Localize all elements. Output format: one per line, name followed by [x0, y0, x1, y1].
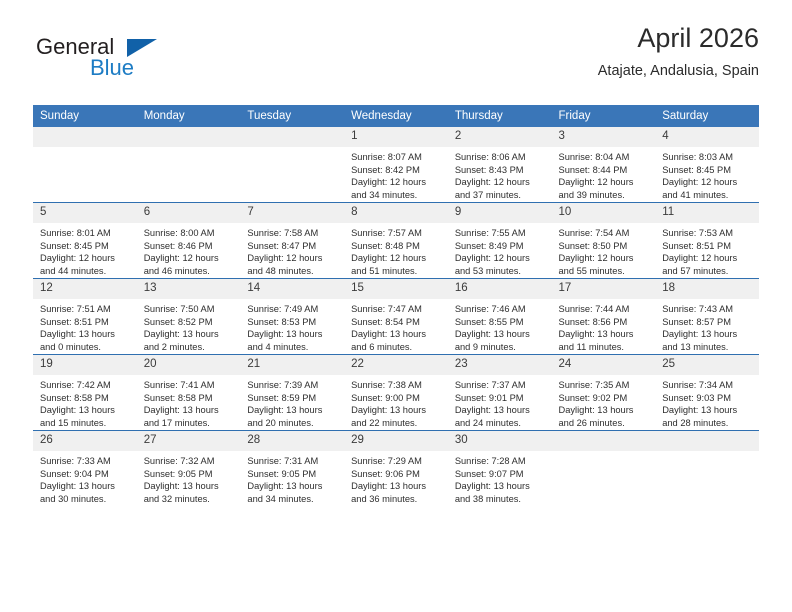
calendar-day-cell[interactable]: 22Sunrise: 7:38 AMSunset: 9:00 PMDayligh… — [344, 355, 448, 431]
day-number: 10 — [552, 203, 656, 223]
sunset-text: Sunset: 8:59 PM — [247, 392, 338, 405]
daylight-text: Daylight: 13 hours and 36 minutes. — [351, 480, 442, 505]
sunrise-text: Sunrise: 7:41 AM — [144, 379, 235, 392]
daylight-text: Daylight: 12 hours and 37 minutes. — [455, 176, 546, 201]
calendar-day-cell[interactable]: 19Sunrise: 7:42 AMSunset: 8:58 PMDayligh… — [33, 355, 137, 431]
sunrise-text: Sunrise: 8:00 AM — [144, 227, 235, 240]
daylight-text: Daylight: 13 hours and 20 minutes. — [247, 404, 338, 429]
day-sun-info: Sunrise: 7:46 AMSunset: 8:55 PMDaylight:… — [448, 299, 552, 353]
day-sun-info: Sunrise: 7:34 AMSunset: 9:03 PMDaylight:… — [655, 375, 759, 429]
day-sun-info: Sunrise: 7:28 AMSunset: 9:07 PMDaylight:… — [448, 451, 552, 505]
weekday-header-saturday: Saturday — [655, 105, 759, 127]
daylight-text: Daylight: 13 hours and 30 minutes. — [40, 480, 131, 505]
calendar-day-cell[interactable]: 11Sunrise: 7:53 AMSunset: 8:51 PMDayligh… — [655, 203, 759, 279]
calendar-day-cell[interactable]: 27Sunrise: 7:32 AMSunset: 9:05 PMDayligh… — [137, 431, 241, 507]
day-number — [137, 127, 241, 147]
calendar-day-cell[interactable]: 15Sunrise: 7:47 AMSunset: 8:54 PMDayligh… — [344, 279, 448, 355]
sunset-text: Sunset: 8:56 PM — [559, 316, 650, 329]
daylight-text: Daylight: 12 hours and 51 minutes. — [351, 252, 442, 277]
calendar-cell-empty — [137, 127, 241, 203]
calendar-day-cell[interactable]: 9Sunrise: 7:55 AMSunset: 8:49 PMDaylight… — [448, 203, 552, 279]
day-sun-info: Sunrise: 7:50 AMSunset: 8:52 PMDaylight:… — [137, 299, 241, 353]
calendar-day-cell[interactable]: 16Sunrise: 7:46 AMSunset: 8:55 PMDayligh… — [448, 279, 552, 355]
day-sun-info: Sunrise: 7:29 AMSunset: 9:06 PMDaylight:… — [344, 451, 448, 505]
day-sun-info: Sunrise: 7:57 AMSunset: 8:48 PMDaylight:… — [344, 223, 448, 277]
sunset-text: Sunset: 9:06 PM — [351, 468, 442, 481]
sunset-text: Sunset: 9:04 PM — [40, 468, 131, 481]
calendar-day-cell[interactable]: 5Sunrise: 8:01 AMSunset: 8:45 PMDaylight… — [33, 203, 137, 279]
sunset-text: Sunset: 9:02 PM — [559, 392, 650, 405]
sunrise-text: Sunrise: 7:55 AM — [455, 227, 546, 240]
daylight-text: Daylight: 13 hours and 9 minutes. — [455, 328, 546, 353]
day-sun-info: Sunrise: 8:00 AMSunset: 8:46 PMDaylight:… — [137, 223, 241, 277]
calendar-table: Sunday Monday Tuesday Wednesday Thursday… — [33, 105, 759, 506]
calendar-day-cell[interactable]: 30Sunrise: 7:28 AMSunset: 9:07 PMDayligh… — [448, 431, 552, 507]
day-sun-info: Sunrise: 7:35 AMSunset: 9:02 PMDaylight:… — [552, 375, 656, 429]
daylight-text: Daylight: 13 hours and 15 minutes. — [40, 404, 131, 429]
sunrise-text: Sunrise: 7:34 AM — [662, 379, 753, 392]
day-sun-info: Sunrise: 7:31 AMSunset: 9:05 PMDaylight:… — [240, 451, 344, 505]
sunset-text: Sunset: 9:07 PM — [455, 468, 546, 481]
location-subtitle: Atajate, Andalusia, Spain — [598, 62, 759, 80]
sunrise-text: Sunrise: 7:47 AM — [351, 303, 442, 316]
calendar-day-cell[interactable]: 7Sunrise: 7:58 AMSunset: 8:47 PMDaylight… — [240, 203, 344, 279]
sunset-text: Sunset: 8:48 PM — [351, 240, 442, 253]
calendar-week-row: 5Sunrise: 8:01 AMSunset: 8:45 PMDaylight… — [33, 203, 759, 279]
calendar-day-cell[interactable]: 20Sunrise: 7:41 AMSunset: 8:58 PMDayligh… — [137, 355, 241, 431]
weekday-header-friday: Friday — [552, 105, 656, 127]
sunrise-text: Sunrise: 7:39 AM — [247, 379, 338, 392]
calendar-day-cell[interactable]: 3Sunrise: 8:04 AMSunset: 8:44 PMDaylight… — [552, 127, 656, 203]
day-number — [240, 127, 344, 147]
day-sun-info: Sunrise: 7:33 AMSunset: 9:04 PMDaylight:… — [33, 451, 137, 505]
daylight-text: Daylight: 12 hours and 53 minutes. — [455, 252, 546, 277]
sunrise-text: Sunrise: 8:06 AM — [455, 151, 546, 164]
calendar-week-row: 19Sunrise: 7:42 AMSunset: 8:58 PMDayligh… — [33, 355, 759, 431]
day-number: 8 — [344, 203, 448, 223]
daylight-text: Daylight: 12 hours and 34 minutes. — [351, 176, 442, 201]
sunrise-text: Sunrise: 8:03 AM — [662, 151, 753, 164]
calendar-day-cell[interactable]: 6Sunrise: 8:00 AMSunset: 8:46 PMDaylight… — [137, 203, 241, 279]
daylight-text: Daylight: 12 hours and 55 minutes. — [559, 252, 650, 277]
day-sun-info: Sunrise: 7:32 AMSunset: 9:05 PMDaylight:… — [137, 451, 241, 505]
sunrise-text: Sunrise: 7:42 AM — [40, 379, 131, 392]
sunset-text: Sunset: 9:01 PM — [455, 392, 546, 405]
day-number: 9 — [448, 203, 552, 223]
page-header: General Blue April 2026 Atajate, Andalus… — [33, 22, 759, 94]
day-number: 14 — [240, 279, 344, 299]
sunset-text: Sunset: 8:54 PM — [351, 316, 442, 329]
sunset-text: Sunset: 8:52 PM — [144, 316, 235, 329]
day-sun-info: Sunrise: 7:51 AMSunset: 8:51 PMDaylight:… — [33, 299, 137, 353]
sunrise-text: Sunrise: 7:50 AM — [144, 303, 235, 316]
sunset-text: Sunset: 9:03 PM — [662, 392, 753, 405]
calendar-body: 1Sunrise: 8:07 AMSunset: 8:42 PMDaylight… — [33, 127, 759, 506]
calendar-day-cell[interactable]: 8Sunrise: 7:57 AMSunset: 8:48 PMDaylight… — [344, 203, 448, 279]
day-number: 21 — [240, 355, 344, 375]
day-number: 4 — [655, 127, 759, 147]
day-number: 5 — [33, 203, 137, 223]
daylight-text: Daylight: 13 hours and 34 minutes. — [247, 480, 338, 505]
sunrise-text: Sunrise: 7:58 AM — [247, 227, 338, 240]
calendar-day-cell[interactable]: 4Sunrise: 8:03 AMSunset: 8:45 PMDaylight… — [655, 127, 759, 203]
sunrise-text: Sunrise: 7:31 AM — [247, 455, 338, 468]
calendar-week-row: 12Sunrise: 7:51 AMSunset: 8:51 PMDayligh… — [33, 279, 759, 355]
sunset-text: Sunset: 8:46 PM — [144, 240, 235, 253]
sunrise-text: Sunrise: 7:53 AM — [662, 227, 753, 240]
day-number: 3 — [552, 127, 656, 147]
daylight-text: Daylight: 13 hours and 11 minutes. — [559, 328, 650, 353]
day-number: 13 — [137, 279, 241, 299]
sunset-text: Sunset: 9:00 PM — [351, 392, 442, 405]
day-sun-info: Sunrise: 7:54 AMSunset: 8:50 PMDaylight:… — [552, 223, 656, 277]
day-sun-info: Sunrise: 7:42 AMSunset: 8:58 PMDaylight:… — [33, 375, 137, 429]
sunrise-text: Sunrise: 7:43 AM — [662, 303, 753, 316]
day-sun-info: Sunrise: 7:55 AMSunset: 8:49 PMDaylight:… — [448, 223, 552, 277]
sunrise-text: Sunrise: 7:51 AM — [40, 303, 131, 316]
sunset-text: Sunset: 9:05 PM — [247, 468, 338, 481]
sunset-text: Sunset: 8:45 PM — [40, 240, 131, 253]
sunset-text: Sunset: 8:42 PM — [351, 164, 442, 177]
weekday-header-row: Sunday Monday Tuesday Wednesday Thursday… — [33, 105, 759, 127]
sunset-text: Sunset: 8:49 PM — [455, 240, 546, 253]
calendar-day-cell[interactable]: 26Sunrise: 7:33 AMSunset: 9:04 PMDayligh… — [33, 431, 137, 507]
daylight-text: Daylight: 13 hours and 24 minutes. — [455, 404, 546, 429]
calendar-cell-empty — [552, 431, 656, 507]
daylight-text: Daylight: 12 hours and 44 minutes. — [40, 252, 131, 277]
sunset-text: Sunset: 8:50 PM — [559, 240, 650, 253]
day-number: 23 — [448, 355, 552, 375]
logo-text-blue: Blue — [90, 55, 134, 81]
day-sun-info: Sunrise: 8:03 AMSunset: 8:45 PMDaylight:… — [655, 147, 759, 201]
sunset-text: Sunset: 9:05 PM — [144, 468, 235, 481]
day-sun-info: Sunrise: 8:07 AMSunset: 8:42 PMDaylight:… — [344, 147, 448, 201]
sunrise-text: Sunrise: 7:35 AM — [559, 379, 650, 392]
calendar-day-cell[interactable]: 12Sunrise: 7:51 AMSunset: 8:51 PMDayligh… — [33, 279, 137, 355]
daylight-text: Daylight: 13 hours and 2 minutes. — [144, 328, 235, 353]
sunrise-text: Sunrise: 7:28 AM — [455, 455, 546, 468]
calendar-day-cell[interactable]: 21Sunrise: 7:39 AMSunset: 8:59 PMDayligh… — [240, 355, 344, 431]
day-number: 24 — [552, 355, 656, 375]
sunset-text: Sunset: 8:58 PM — [40, 392, 131, 405]
day-sun-info: Sunrise: 7:53 AMSunset: 8:51 PMDaylight:… — [655, 223, 759, 277]
daylight-text: Daylight: 13 hours and 13 minutes. — [662, 328, 753, 353]
daylight-text: Daylight: 13 hours and 4 minutes. — [247, 328, 338, 353]
sunrise-text: Sunrise: 7:29 AM — [351, 455, 442, 468]
day-number — [655, 431, 759, 451]
sunset-text: Sunset: 8:53 PM — [247, 316, 338, 329]
weekday-header-wednesday: Wednesday — [344, 105, 448, 127]
sunset-text: Sunset: 8:45 PM — [662, 164, 753, 177]
sunrise-text: Sunrise: 7:57 AM — [351, 227, 442, 240]
weekday-header-tuesday: Tuesday — [240, 105, 344, 127]
day-sun-info: Sunrise: 8:01 AMSunset: 8:45 PMDaylight:… — [33, 223, 137, 277]
calendar-day-cell[interactable]: 2Sunrise: 8:06 AMSunset: 8:43 PMDaylight… — [448, 127, 552, 203]
day-number: 29 — [344, 431, 448, 451]
page-title: April 2026 — [598, 22, 759, 54]
day-number: 19 — [33, 355, 137, 375]
day-number: 7 — [240, 203, 344, 223]
day-number: 6 — [137, 203, 241, 223]
sunset-text: Sunset: 8:51 PM — [662, 240, 753, 253]
sunrise-text: Sunrise: 7:54 AM — [559, 227, 650, 240]
calendar-cell-empty — [655, 431, 759, 507]
weekday-header-sunday: Sunday — [33, 105, 137, 127]
day-sun-info: Sunrise: 8:04 AMSunset: 8:44 PMDaylight:… — [552, 147, 656, 201]
sunrise-text: Sunrise: 7:44 AM — [559, 303, 650, 316]
daylight-text: Daylight: 12 hours and 48 minutes. — [247, 252, 338, 277]
sunrise-text: Sunrise: 8:07 AM — [351, 151, 442, 164]
sunrise-text: Sunrise: 8:04 AM — [559, 151, 650, 164]
daylight-text: Daylight: 12 hours and 41 minutes. — [662, 176, 753, 201]
calendar-day-cell[interactable]: 25Sunrise: 7:34 AMSunset: 9:03 PMDayligh… — [655, 355, 759, 431]
day-sun-info: Sunrise: 8:06 AMSunset: 8:43 PMDaylight:… — [448, 147, 552, 201]
title-block: April 2026 Atajate, Andalusia, Spain — [598, 22, 759, 80]
weekday-header-monday: Monday — [137, 105, 241, 127]
day-sun-info: Sunrise: 7:43 AMSunset: 8:57 PMDaylight:… — [655, 299, 759, 353]
calendar-page: General Blue April 2026 Atajate, Andalus… — [0, 0, 792, 612]
daylight-text: Daylight: 13 hours and 28 minutes. — [662, 404, 753, 429]
calendar-day-cell[interactable]: 14Sunrise: 7:49 AMSunset: 8:53 PMDayligh… — [240, 279, 344, 355]
calendar-day-cell[interactable]: 13Sunrise: 7:50 AMSunset: 8:52 PMDayligh… — [137, 279, 241, 355]
calendar-day-cell[interactable]: 17Sunrise: 7:44 AMSunset: 8:56 PMDayligh… — [552, 279, 656, 355]
weekday-header-thursday: Thursday — [448, 105, 552, 127]
daylight-text: Daylight: 13 hours and 22 minutes. — [351, 404, 442, 429]
daylight-text: Daylight: 13 hours and 17 minutes. — [144, 404, 235, 429]
day-number: 16 — [448, 279, 552, 299]
daylight-text: Daylight: 13 hours and 38 minutes. — [455, 480, 546, 505]
daylight-text: Daylight: 13 hours and 6 minutes. — [351, 328, 442, 353]
daylight-text: Daylight: 12 hours and 57 minutes. — [662, 252, 753, 277]
sunrise-text: Sunrise: 7:37 AM — [455, 379, 546, 392]
sunrise-text: Sunrise: 7:38 AM — [351, 379, 442, 392]
calendar-day-cell[interactable]: 29Sunrise: 7:29 AMSunset: 9:06 PMDayligh… — [344, 431, 448, 507]
sunset-text: Sunset: 8:58 PM — [144, 392, 235, 405]
daylight-text: Daylight: 13 hours and 0 minutes. — [40, 328, 131, 353]
calendar-day-cell[interactable]: 18Sunrise: 7:43 AMSunset: 8:57 PMDayligh… — [655, 279, 759, 355]
day-number: 27 — [137, 431, 241, 451]
daylight-text: Daylight: 13 hours and 32 minutes. — [144, 480, 235, 505]
sunset-text: Sunset: 8:55 PM — [455, 316, 546, 329]
calendar-day-cell[interactable]: 28Sunrise: 7:31 AMSunset: 9:05 PMDayligh… — [240, 431, 344, 507]
day-number: 30 — [448, 431, 552, 451]
day-number: 22 — [344, 355, 448, 375]
day-number: 28 — [240, 431, 344, 451]
day-number: 17 — [552, 279, 656, 299]
day-sun-info: Sunrise: 7:39 AMSunset: 8:59 PMDaylight:… — [240, 375, 344, 429]
calendar-day-cell[interactable]: 1Sunrise: 8:07 AMSunset: 8:42 PMDaylight… — [344, 127, 448, 203]
calendar-week-row: 1Sunrise: 8:07 AMSunset: 8:42 PMDaylight… — [33, 127, 759, 203]
day-number — [552, 431, 656, 451]
day-sun-info: Sunrise: 7:38 AMSunset: 9:00 PMDaylight:… — [344, 375, 448, 429]
sunset-text: Sunset: 8:43 PM — [455, 164, 546, 177]
sunrise-text: Sunrise: 7:32 AM — [144, 455, 235, 468]
day-sun-info: Sunrise: 7:58 AMSunset: 8:47 PMDaylight:… — [240, 223, 344, 277]
calendar-day-cell[interactable]: 24Sunrise: 7:35 AMSunset: 9:02 PMDayligh… — [552, 355, 656, 431]
calendar-week-row: 26Sunrise: 7:33 AMSunset: 9:04 PMDayligh… — [33, 431, 759, 507]
day-number: 2 — [448, 127, 552, 147]
day-sun-info: Sunrise: 7:44 AMSunset: 8:56 PMDaylight:… — [552, 299, 656, 353]
sunrise-text: Sunrise: 7:49 AM — [247, 303, 338, 316]
day-number: 12 — [33, 279, 137, 299]
day-number: 18 — [655, 279, 759, 299]
sunset-text: Sunset: 8:51 PM — [40, 316, 131, 329]
general-blue-logo: General Blue — [33, 34, 183, 86]
sunrise-text: Sunrise: 8:01 AM — [40, 227, 131, 240]
day-number: 1 — [344, 127, 448, 147]
sunset-text: Sunset: 8:57 PM — [662, 316, 753, 329]
day-number: 26 — [33, 431, 137, 451]
day-number: 20 — [137, 355, 241, 375]
day-sun-info: Sunrise: 7:37 AMSunset: 9:01 PMDaylight:… — [448, 375, 552, 429]
day-number: 15 — [344, 279, 448, 299]
day-number: 11 — [655, 203, 759, 223]
daylight-text: Daylight: 12 hours and 39 minutes. — [559, 176, 650, 201]
calendar-cell-empty — [33, 127, 137, 203]
day-sun-info: Sunrise: 7:47 AMSunset: 8:54 PMDaylight:… — [344, 299, 448, 353]
calendar-day-cell[interactable]: 23Sunrise: 7:37 AMSunset: 9:01 PMDayligh… — [448, 355, 552, 431]
sunset-text: Sunset: 8:47 PM — [247, 240, 338, 253]
daylight-text: Daylight: 13 hours and 26 minutes. — [559, 404, 650, 429]
sunset-text: Sunset: 8:44 PM — [559, 164, 650, 177]
calendar-cell-empty — [240, 127, 344, 203]
day-sun-info: Sunrise: 7:49 AMSunset: 8:53 PMDaylight:… — [240, 299, 344, 353]
calendar-day-cell[interactable]: 10Sunrise: 7:54 AMSunset: 8:50 PMDayligh… — [552, 203, 656, 279]
sunrise-text: Sunrise: 7:33 AM — [40, 455, 131, 468]
daylight-text: Daylight: 12 hours and 46 minutes. — [144, 252, 235, 277]
day-sun-info: Sunrise: 7:41 AMSunset: 8:58 PMDaylight:… — [137, 375, 241, 429]
sunrise-text: Sunrise: 7:46 AM — [455, 303, 546, 316]
day-number: 25 — [655, 355, 759, 375]
day-number — [33, 127, 137, 147]
